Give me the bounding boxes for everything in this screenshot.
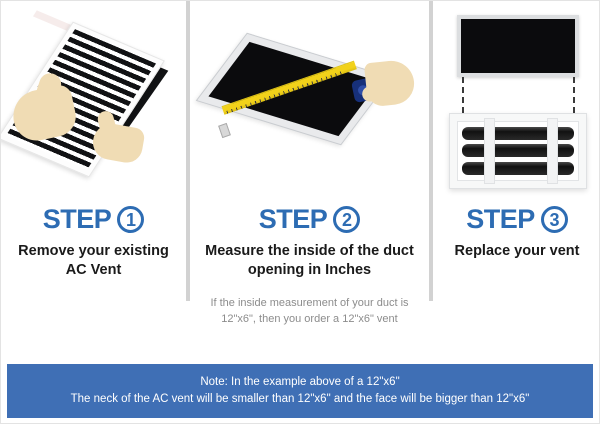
tape-measure-on-duct-icon [190, 1, 429, 206]
alignment-guide-right [573, 77, 575, 113]
note-line-2: The neck of the AC vent will be smaller … [71, 391, 530, 408]
duct-opening-shape [457, 15, 579, 77]
step-1-illustration [1, 1, 186, 206]
step-2-subtext: If the inside measurement of your duct i… [190, 296, 429, 328]
step-column-1: STEP 1 Remove your existing AC Vent [1, 1, 186, 361]
instruction-infographic: STEP 1 Remove your existing AC Vent STEP… [0, 0, 600, 424]
step-3-illustration [433, 1, 600, 206]
step-3-word: STEP [466, 206, 535, 233]
vent-aligned-under-duct-icon [433, 1, 600, 206]
step-1-word: STEP [43, 206, 112, 233]
step-2-description: Measure the inside of the duct opening i… [190, 242, 429, 280]
replacement-vent-shape [449, 113, 587, 189]
hand-removing-vent-icon [1, 1, 186, 206]
step-1-description: Remove your existing AC Vent [1, 242, 186, 280]
vent-divider-bar [484, 118, 495, 184]
vent-louver-group [457, 121, 579, 181]
step-1-heading: STEP 1 [1, 206, 186, 233]
step-2-heading: STEP 2 [190, 206, 429, 233]
step-column-2: STEP 2 Measure the inside of the duct op… [190, 1, 429, 361]
step-2-number-badge: 2 [333, 206, 360, 233]
tape-hook-shape [218, 123, 231, 138]
step-3-heading: STEP 3 [433, 206, 600, 233]
vent-divider-bar [547, 118, 558, 184]
step-column-3: STEP 3 Replace your vent [433, 1, 600, 361]
step-3-number-badge: 3 [541, 206, 568, 233]
step-1-number-badge: 1 [117, 206, 144, 233]
step-2-illustration [190, 1, 429, 206]
alignment-guide-left [462, 77, 464, 113]
hand-shape [364, 59, 416, 108]
note-banner: Note: In the example above of a 12"x6" T… [7, 364, 593, 418]
step-2-word: STEP [259, 206, 328, 233]
step-3-description: Replace your vent [433, 242, 600, 261]
note-line-1: Note: In the example above of a 12"x6" [200, 374, 399, 391]
